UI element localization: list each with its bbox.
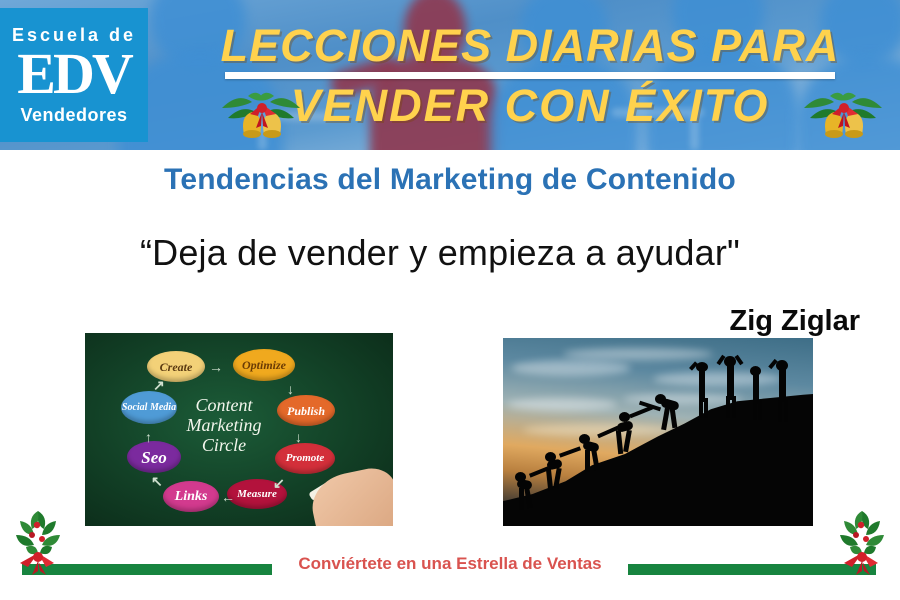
diagram-arrow-icon: ↓	[295, 429, 302, 445]
diagram-arrow-icon: ↙	[273, 475, 285, 492]
diagram-arrow-icon: ↓	[287, 381, 294, 397]
christmas-bells-icon	[218, 82, 304, 142]
quote-text: “Deja de vender y empieza a ayudar"	[0, 232, 880, 274]
diagram-node-optimize: Optimize	[233, 349, 295, 381]
diagram-arrow-icon: ↗	[153, 377, 165, 394]
diagram-node-seo: Seo	[127, 441, 181, 473]
logo-monogram: EDV	[17, 46, 130, 101]
diagram-arrow-icon: ↖	[151, 473, 163, 490]
logo-bottom-text: Vendedores	[20, 106, 127, 124]
center-line-1: Content	[163, 395, 285, 415]
center-line-2: Marketing	[163, 415, 285, 435]
diagram-node-social-media: Social Media	[121, 391, 177, 424]
banner-line-1: LECCIONES DIARIAS PARA	[221, 23, 840, 69]
diagram-arrow-icon: →	[209, 359, 223, 375]
banner-line-2: VENDER CON ÉXITO	[291, 83, 770, 129]
diagram-node-promote: Promote	[275, 443, 335, 474]
diagram-arrow-icon: ↑	[145, 429, 152, 445]
mountain-silhouette	[503, 366, 813, 526]
christmas-bells-icon	[800, 82, 886, 142]
header-banner: Escuela de EDV Vendedores LECCIONES DIAR…	[0, 0, 900, 150]
holly-decoration-icon	[8, 505, 70, 575]
hand-drawing-illustration	[306, 464, 393, 526]
holly-decoration-icon	[832, 505, 894, 575]
quote-author: Zig Ziglar	[730, 305, 861, 338]
footer-tagline: Conviértete en una Estrella de Ventas	[272, 554, 628, 574]
diagram-node-links: Links	[163, 481, 219, 512]
brand-logo: Escuela de EDV Vendedores	[0, 8, 148, 142]
diagram-node-publish: Publish	[277, 395, 335, 426]
diagram-center-label: Content Marketing Circle	[163, 395, 285, 455]
center-line-3: Circle	[163, 435, 285, 455]
teamwork-mountain-climb-image	[503, 338, 813, 526]
page-title: Tendencias del Marketing de Contenido	[0, 163, 900, 197]
content-marketing-circle-image: Content Marketing Circle Create Optimize…	[85, 333, 393, 526]
banner-divider	[225, 72, 835, 79]
diagram-arrow-icon: ←	[221, 489, 235, 505]
